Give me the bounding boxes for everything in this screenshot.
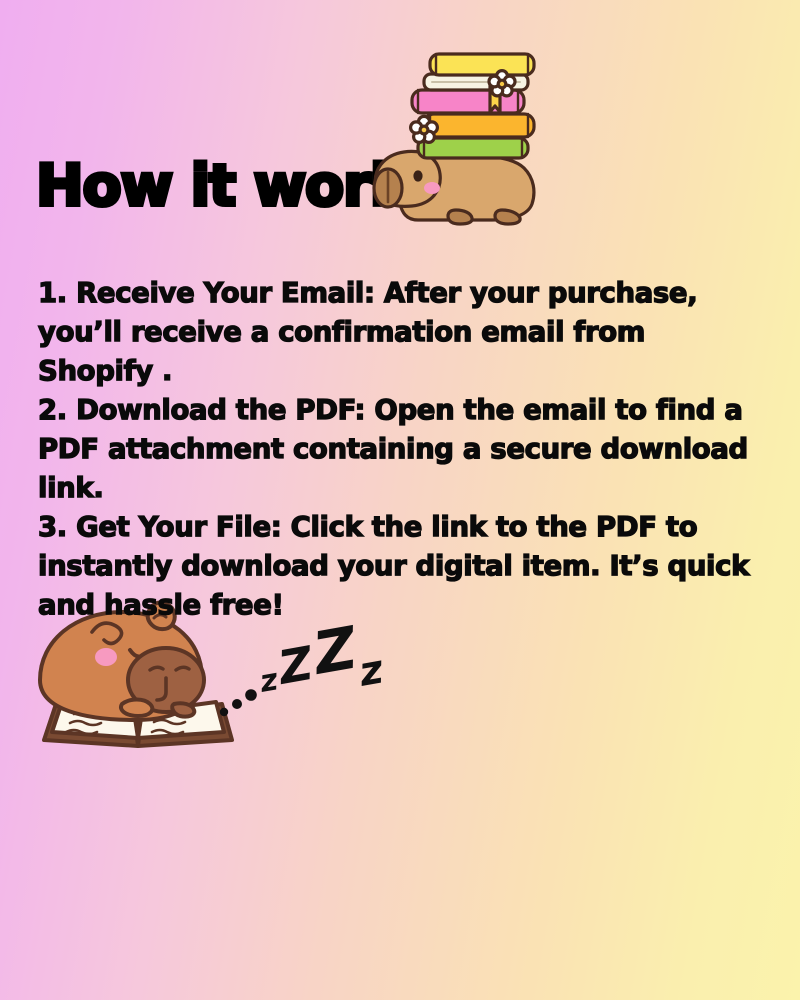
svg-text:z: z [355,646,388,696]
orange-book [424,114,534,137]
step-1-text: 1. Receive Your Email: After your purcha… [38,274,764,391]
yellow-book [430,54,534,75]
zzz-sleep-marks [220,689,257,716]
poster-canvas: How it works [0,0,800,1000]
svg-text:z: z [256,662,281,700]
svg-text:Z: Z [273,636,319,696]
capybara-with-book-stack-illustration [352,52,562,247]
step-3-text: 3. Get Your File: Click the link to the … [38,508,764,625]
zzz-letters: z Z Z z [256,613,387,700]
step-2-text: 2. Download the PDF: Open the email to f… [38,391,764,508]
